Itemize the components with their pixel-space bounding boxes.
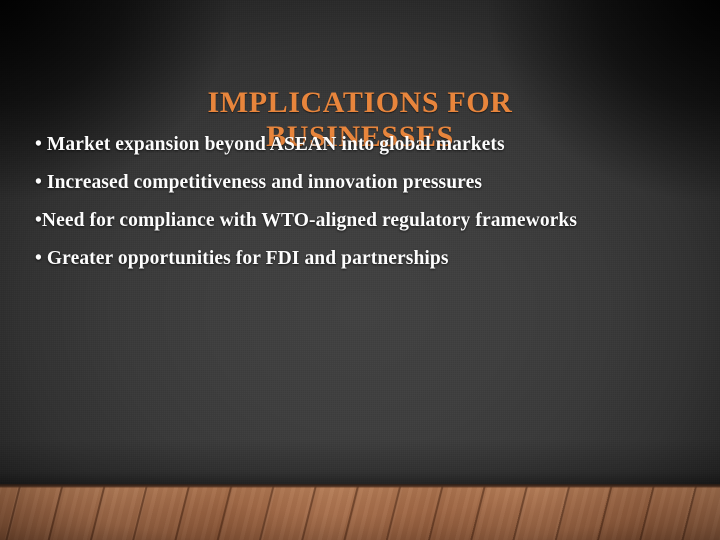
bullet-item-2: • Increased competitiveness and innovati… — [35, 171, 685, 195]
bullet-item-1: • Market expansion beyond ASEAN into glo… — [35, 133, 685, 157]
wooden-floor — [0, 484, 720, 540]
slide-body-content: • Market expansion beyond ASEAN into glo… — [35, 133, 685, 285]
bullet-item-3: •Need for compliance with WTO-aligned re… — [35, 209, 685, 233]
presentation-slide: Implications for Businesses • Market exp… — [0, 0, 720, 540]
floor-vignette — [0, 484, 720, 540]
bullet-item-4: • Greater opportunities for FDI and part… — [35, 247, 685, 271]
wall-floor-shadow — [0, 440, 720, 486]
